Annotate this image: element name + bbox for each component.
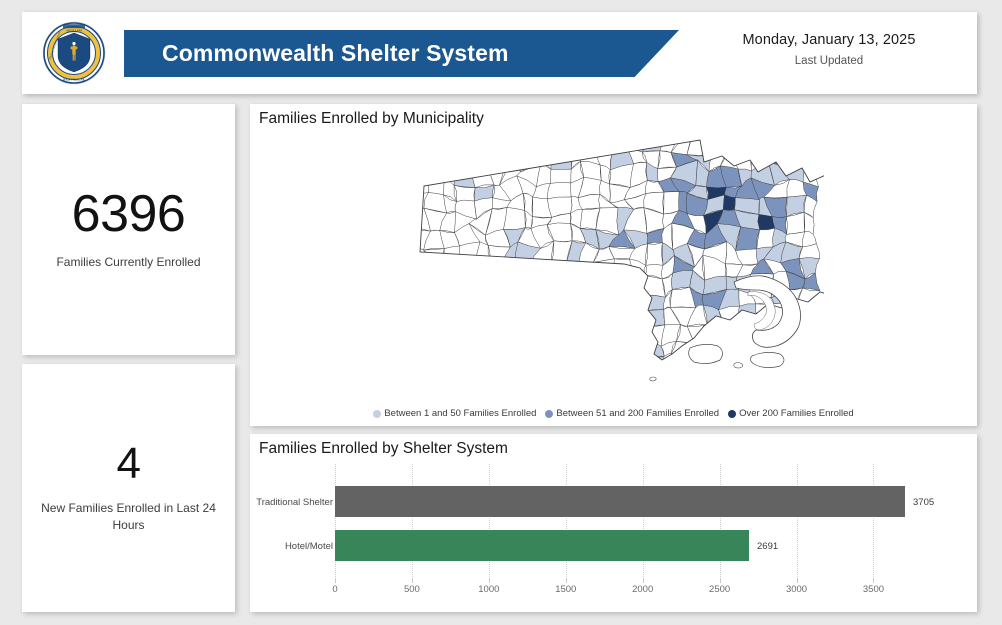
- municipality-shape[interactable]: [414, 318, 429, 336]
- municipality-shape[interactable]: [663, 192, 679, 214]
- x-tick-label: 2500: [709, 584, 730, 595]
- municipality-shape[interactable]: [578, 262, 594, 281]
- municipality-shape[interactable]: [454, 132, 476, 152]
- municipality-shape[interactable]: [500, 298, 524, 310]
- municipality-shape[interactable]: [475, 258, 492, 278]
- legend-item-low: Between 1 and 50 Families Enrolled: [373, 408, 536, 419]
- municipality-shape[interactable]: [454, 145, 471, 162]
- municipality-shape[interactable]: [452, 275, 475, 299]
- municipality-shape[interactable]: [623, 321, 646, 338]
- municipality-shape[interactable]: [415, 276, 424, 293]
- municipality-shape[interactable]: [570, 293, 587, 313]
- municipality-shape[interactable]: [610, 132, 627, 151]
- municipality-shape[interactable]: [548, 354, 567, 378]
- municipality-shape[interactable]: [804, 148, 816, 163]
- municipality-shape[interactable]: [487, 277, 506, 298]
- x-tick-mark: [335, 579, 336, 583]
- municipality-shape[interactable]: [608, 321, 625, 337]
- municipality-shape[interactable]: [536, 303, 553, 328]
- municipality-shape[interactable]: [549, 303, 572, 328]
- municipality-shape[interactable]: [803, 319, 816, 344]
- municipality-shape[interactable]: [707, 325, 726, 341]
- municipality-shape[interactable]: [703, 132, 727, 155]
- municipality-shape[interactable]: [422, 291, 446, 313]
- municipality-shape[interactable]: [533, 289, 553, 312]
- municipality-shape[interactable]: [428, 177, 445, 195]
- municipality-shape[interactable]: [503, 207, 525, 229]
- x-tick-label: 1500: [555, 584, 576, 595]
- municipality-shape[interactable]: [409, 290, 424, 313]
- municipality-shape[interactable]: [687, 325, 712, 346]
- municipality-shape[interactable]: [569, 133, 584, 147]
- municipality-shape[interactable]: [750, 352, 784, 367]
- kpi-value: 6396: [72, 188, 186, 240]
- municipality-shape[interactable]: [438, 324, 462, 344]
- x-tick-mark: [412, 579, 413, 583]
- dashboard-page: SIGILLVM REIPVBLICAE MASSACHVSETTENSIS C…: [0, 0, 1002, 625]
- map-panel-title: Families Enrolled by Municipality: [259, 110, 484, 128]
- municipality-shape[interactable]: [550, 272, 570, 294]
- massachusetts-choropleth-map[interactable]: [250, 132, 977, 394]
- municipality-shape[interactable]: [517, 272, 537, 299]
- municipality-shape[interactable]: [504, 145, 520, 172]
- municipality-shape[interactable]: [456, 260, 476, 281]
- bar-hotel-motel[interactable]: [335, 530, 749, 561]
- x-tick-mark: [566, 579, 567, 583]
- map-legend: Between 1 and 50 Families Enrolled Betwe…: [250, 408, 977, 419]
- municipality-shape[interactable]: [598, 294, 618, 307]
- municipality-shape[interactable]: [500, 304, 526, 327]
- municipality-shape[interactable]: [639, 310, 664, 326]
- municipality-shape[interactable]: [781, 344, 803, 360]
- municipality-shape[interactable]: [579, 336, 603, 362]
- municipality-shape[interactable]: [438, 306, 460, 331]
- legend-label: Over 200 Families Enrolled: [739, 408, 854, 419]
- municipality-shape[interactable]: [567, 336, 583, 362]
- municipality-shape[interactable]: [586, 273, 598, 298]
- municipality-shape[interactable]: [424, 167, 447, 178]
- kpi-label: New Families Enrolled in Last 24 Hours: [39, 500, 219, 535]
- municipality-shape[interactable]: [764, 132, 791, 154]
- municipality-shape[interactable]: [504, 272, 523, 299]
- x-tick-mark: [643, 579, 644, 583]
- municipality-shape[interactable]: [579, 132, 604, 153]
- x-gridline: [797, 464, 798, 579]
- municipality-shape[interactable]: [408, 132, 424, 155]
- municipality-shape[interactable]: [805, 133, 820, 152]
- municipality-shape[interactable]: [634, 274, 645, 296]
- municipality-shape[interactable]: [612, 274, 634, 294]
- municipality-shape[interactable]: [469, 275, 492, 299]
- municipality-shape[interactable]: [643, 276, 665, 298]
- municipality-shape[interactable]: [550, 169, 571, 184]
- municipality-shape[interactable]: [499, 338, 525, 360]
- x-gridline: [873, 464, 874, 579]
- municipality-shape[interactable]: [593, 358, 615, 368]
- municipality-shape[interactable]: [563, 358, 580, 373]
- municipality-shape[interactable]: [520, 350, 540, 377]
- municipality-shape[interactable]: [547, 183, 572, 199]
- municipality-shape[interactable]: [500, 264, 517, 278]
- category-label: Traditional Shelter: [256, 497, 333, 508]
- municipality-shape[interactable]: [579, 358, 604, 373]
- x-gridline: [412, 464, 413, 579]
- municipality-shape[interactable]: [732, 132, 754, 152]
- municipality-shape[interactable]: [537, 320, 557, 344]
- municipality-shape[interactable]: [639, 295, 665, 311]
- municipality-shape[interactable]: [549, 324, 571, 340]
- municipality-shape[interactable]: [718, 358, 735, 373]
- municipality-shape[interactable]: [764, 144, 791, 165]
- kpi-card-new-families-24h: 4 New Families Enrolled in Last 24 Hours: [22, 364, 235, 612]
- municipality-shape[interactable]: [723, 195, 735, 210]
- bar-value-label: 3705: [913, 497, 934, 508]
- municipality-shape[interactable]: [566, 263, 586, 274]
- plot-area: [335, 464, 935, 579]
- municipality-shape[interactable]: [532, 351, 553, 377]
- bar-chart-plot: Traditional ShelterHotel/Motel 050010001…: [250, 464, 977, 610]
- municipality-shape[interactable]: [593, 278, 614, 298]
- municipality-shape[interactable]: [484, 146, 508, 167]
- svg-text:REIPVBLICAE: REIPVBLICAE: [63, 78, 85, 82]
- municipality-shape[interactable]: [599, 337, 615, 362]
- municipality-shape[interactable]: [441, 291, 460, 309]
- municipality-shape[interactable]: [630, 357, 647, 374]
- municipality-shape[interactable]: [456, 340, 479, 362]
- municipality-shape[interactable]: [444, 334, 462, 353]
- municipality-shape[interactable]: [535, 144, 553, 170]
- kpi-value: 4: [117, 442, 141, 486]
- x-tick-label: 500: [404, 584, 420, 595]
- legend-dot-icon: [728, 410, 736, 418]
- x-gridline: [566, 464, 567, 579]
- x-gridline: [643, 464, 644, 579]
- municipality-shape[interactable]: [609, 336, 630, 360]
- municipality-shape[interactable]: [551, 291, 572, 309]
- municipality-shape[interactable]: [443, 350, 458, 370]
- municipality-shape[interactable]: [409, 311, 423, 320]
- x-tick-label: 1000: [478, 584, 499, 595]
- municipality-shape[interactable]: [468, 340, 485, 362]
- municipality-shape[interactable]: [423, 151, 447, 168]
- title-banner: Commonwealth Shelter System: [124, 30, 679, 77]
- x-tick-mark: [720, 579, 721, 583]
- municipality-shape[interactable]: [468, 320, 486, 341]
- municipality-shape[interactable]: [484, 338, 502, 359]
- x-gridline: [720, 464, 721, 579]
- municipality-shape[interactable]: [428, 334, 448, 355]
- municipality-shape[interactable]: [453, 308, 475, 330]
- municipality-shape[interactable]: [749, 144, 768, 171]
- municipality-shape[interactable]: [733, 363, 742, 369]
- municipality-shape[interactable]: [486, 294, 506, 315]
- municipality-shape[interactable]: [623, 336, 646, 360]
- municipality-shape[interactable]: [469, 294, 489, 315]
- municipality-shape[interactable]: [484, 322, 504, 341]
- municipality-shape[interactable]: [794, 351, 820, 368]
- municipality-shape[interactable]: [613, 358, 635, 374]
- municipality-shape[interactable]: [554, 339, 571, 363]
- municipality-shape[interactable]: [522, 304, 537, 327]
- bar-value-label: 2691: [757, 541, 778, 552]
- last-updated-block: Monday, January 13, 2025 Last Updated: [709, 32, 949, 67]
- municipality-shape[interactable]: [438, 152, 457, 167]
- municipality-shape[interactable]: [422, 306, 441, 325]
- last-updated-date: Monday, January 13, 2025: [709, 32, 949, 48]
- municipality-shape[interactable]: [645, 243, 662, 267]
- municipality-shape[interactable]: [577, 304, 601, 327]
- legend-dot-icon: [373, 410, 381, 418]
- municipality-shape[interactable]: [570, 324, 583, 340]
- municipality-shape[interactable]: [515, 132, 539, 153]
- municipality-shape[interactable]: [500, 351, 525, 376]
- municipality-shape[interactable]: [499, 325, 526, 340]
- municipality-shape[interactable]: [686, 132, 712, 155]
- municipality-shape[interactable]: [598, 132, 613, 153]
- municipality-shape[interactable]: [515, 263, 537, 278]
- municipality-shape[interactable]: [533, 274, 551, 291]
- municipality-shape[interactable]: [486, 310, 505, 325]
- municipality-shape[interactable]: [423, 249, 444, 262]
- municipality-shape[interactable]: [577, 319, 601, 341]
- municipality-shape[interactable]: [725, 135, 741, 152]
- municipality-shape[interactable]: [423, 276, 446, 292]
- municipality-shape[interactable]: [406, 151, 424, 172]
- bar-panel-title: Families Enrolled by Shelter System: [259, 440, 508, 458]
- x-tick-label: 0: [332, 584, 337, 595]
- municipality-shape[interactable]: [470, 132, 486, 152]
- x-tick-mark: [873, 579, 874, 583]
- municipality-shape[interactable]: [423, 132, 449, 155]
- municipality-shape[interactable]: [408, 356, 429, 374]
- municipality-shape[interactable]: [600, 304, 618, 322]
- municipality-shape[interactable]: [444, 276, 456, 292]
- legend-item-mid: Between 51 and 200 Families Enrolled: [545, 408, 719, 419]
- municipality-shape[interactable]: [550, 144, 571, 170]
- municipality-shape[interactable]: [452, 292, 474, 314]
- municipality-shape[interactable]: [438, 132, 455, 155]
- municipality-shape[interactable]: [428, 353, 444, 374]
- x-gridline: [335, 464, 336, 579]
- municipality-shape[interactable]: [530, 263, 551, 278]
- municipality-shape[interactable]: [688, 344, 722, 363]
- municipality-shape[interactable]: [552, 133, 571, 147]
- municipality-shape[interactable]: [582, 296, 602, 313]
- legend-item-high: Over 200 Families Enrolled: [728, 408, 854, 419]
- municipality-shape[interactable]: [422, 318, 448, 335]
- svg-text:SIGILLVM: SIGILLVM: [66, 28, 82, 32]
- x-gridline: [489, 464, 490, 579]
- header-card: SIGILLVM REIPVBLICAE MASSACHVSETTENSIS C…: [22, 12, 977, 94]
- municipality-shape[interactable]: [406, 167, 428, 177]
- legend-label: Between 1 and 50 Families Enrolled: [384, 408, 536, 419]
- municipality-shape[interactable]: [609, 305, 626, 323]
- legend-label: Between 51 and 200 Families Enrolled: [556, 408, 719, 419]
- municipality-shape[interactable]: [470, 355, 487, 374]
- x-tick-label: 2000: [632, 584, 653, 595]
- municipality-shape[interactable]: [794, 335, 815, 359]
- municipality-shape[interactable]: [566, 272, 588, 297]
- massachusetts-state-seal-icon: SIGILLVM REIPVBLICAE MASSACHVSETTENSIS: [41, 20, 107, 86]
- municipality-shape[interactable]: [517, 320, 539, 344]
- municipality-shape[interactable]: [599, 319, 609, 341]
- municipality-shape[interactable]: [454, 185, 475, 201]
- x-tick-label: 3000: [786, 584, 807, 595]
- legend-dot-icon: [545, 410, 553, 418]
- municipality-shape[interactable]: [779, 144, 806, 165]
- municipality-shape[interactable]: [749, 132, 773, 154]
- municipality-shape[interactable]: [612, 292, 634, 307]
- municipality-shape[interactable]: [517, 339, 539, 353]
- municipality-shape[interactable]: [484, 355, 502, 377]
- municipality-shape[interactable]: [725, 327, 739, 340]
- municipality-shape[interactable]: [718, 306, 740, 330]
- municipality-shape[interactable]: [454, 160, 475, 187]
- municipality-shape[interactable]: [489, 259, 503, 278]
- municipality-shape[interactable]: [456, 350, 479, 374]
- bar-chart-card: Families Enrolled by Shelter System Trad…: [250, 434, 977, 612]
- municipality-shape[interactable]: [423, 259, 443, 277]
- x-tick-label: 3500: [863, 584, 884, 595]
- municipality-shape[interactable]: [453, 320, 472, 344]
- municipality-shape[interactable]: [408, 335, 429, 359]
- municipality-shape[interactable]: [624, 292, 642, 312]
- municipality-shape[interactable]: [471, 314, 488, 323]
- municipality-shape[interactable]: [522, 289, 537, 312]
- municipality-shape[interactable]: [503, 132, 522, 146]
- municipality-shape[interactable]: [738, 304, 759, 327]
- municipality-shape[interactable]: [786, 137, 806, 149]
- last-updated-caption: Last Updated: [709, 55, 949, 67]
- category-label: Hotel/Motel: [285, 541, 333, 552]
- municipality-shape[interactable]: [550, 263, 566, 275]
- x-tick-mark: [489, 579, 490, 583]
- municipality-shape[interactable]: [649, 377, 655, 381]
- kpi-label: Families Currently Enrolled: [56, 254, 200, 271]
- page-title: Commonwealth Shelter System: [162, 40, 509, 67]
- kpi-card-families-enrolled: 6396 Families Currently Enrolled: [22, 104, 235, 355]
- municipality-shape[interactable]: [486, 132, 505, 152]
- municipality-shape[interactable]: [570, 308, 582, 327]
- bar-traditional-shelter[interactable]: [335, 486, 905, 517]
- municipality-shape[interactable]: [416, 259, 432, 277]
- municipality-shape[interactable]: [646, 356, 664, 371]
- municipality-shape[interactable]: [624, 305, 646, 325]
- municipality-shape[interactable]: [441, 261, 458, 281]
- municipality-shape[interactable]: [469, 145, 486, 167]
- municipality-shape[interactable]: [535, 136, 557, 152]
- municipality-shape[interactable]: [532, 339, 556, 354]
- map-card: Families Enrolled by Municipality Betwee…: [250, 104, 977, 426]
- x-tick-mark: [797, 579, 798, 583]
